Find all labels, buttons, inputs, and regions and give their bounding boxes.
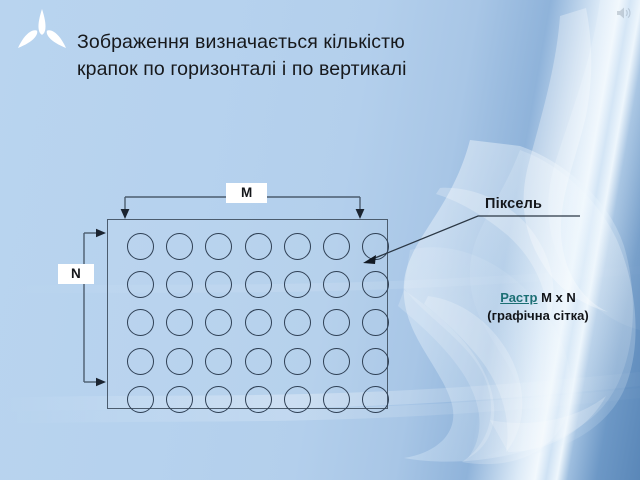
pixel-cell — [284, 271, 311, 298]
pixel-cell — [362, 309, 389, 336]
pixel-cell — [284, 233, 311, 260]
slide-canvas: Зображення визначається кількістю крапок… — [0, 0, 640, 480]
pixel-cell — [284, 348, 311, 375]
pixel-cell — [127, 348, 154, 375]
raster-formula-line: Растр M x N — [463, 289, 613, 307]
pixel-cell — [362, 348, 389, 375]
pixel-cell — [323, 233, 350, 260]
speaker-icon[interactable] — [616, 6, 632, 20]
pixel-cell — [127, 233, 154, 260]
pixel-cell — [127, 309, 154, 336]
pixel-cell — [245, 271, 272, 298]
pixel-cell — [245, 233, 272, 260]
pixel-cell — [127, 386, 154, 413]
height-dimension-arrow — [72, 225, 108, 390]
raster-subtitle: (графічна сітка) — [463, 307, 613, 325]
pixel-cell — [166, 348, 193, 375]
pixel-cell — [245, 348, 272, 375]
pixel-cell — [323, 271, 350, 298]
pixel-cell — [205, 309, 232, 336]
pixel-cell — [362, 271, 389, 298]
raster-caption: Растр M x N (графічна сітка) — [463, 289, 613, 325]
raster-grid-frame — [107, 219, 388, 409]
pixel-cell — [284, 309, 311, 336]
pixel-cell — [166, 233, 193, 260]
pixel-cell — [245, 309, 272, 336]
pixel-callout-leader-line — [355, 205, 585, 270]
pixel-cell — [323, 386, 350, 413]
pixel-grid — [108, 220, 389, 410]
pixel-cell — [166, 309, 193, 336]
pixel-cell — [205, 348, 232, 375]
pixel-cell — [245, 386, 272, 413]
pixel-cell — [323, 309, 350, 336]
pixel-cell — [362, 386, 389, 413]
pixel-cell — [205, 271, 232, 298]
raster-term: Растр — [500, 290, 537, 305]
pixel-cell — [166, 271, 193, 298]
width-label: M — [226, 183, 267, 203]
raster-formula: M x N — [537, 290, 575, 305]
height-label: N — [58, 264, 94, 284]
pixel-cell — [166, 386, 193, 413]
page-title: Зображення визначається кількістю крапок… — [77, 29, 507, 83]
pixel-cell — [127, 271, 154, 298]
pixel-cell — [205, 386, 232, 413]
pixel-cell — [323, 348, 350, 375]
trefoil-logo-icon — [14, 6, 70, 62]
pixel-cell — [284, 386, 311, 413]
pixel-cell — [205, 233, 232, 260]
